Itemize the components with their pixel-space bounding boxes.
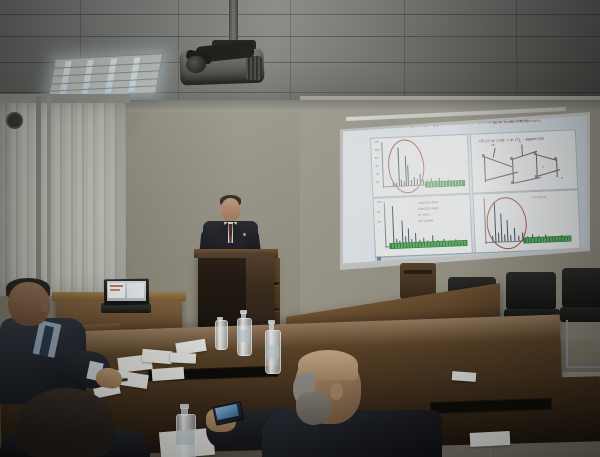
paper-sheet [470,431,511,447]
partition-frame-a [36,96,41,301]
fluorescent-ceiling-light [48,53,163,99]
projector-lens [186,56,206,73]
paper-sheet [141,349,172,365]
paper-sheet [452,371,477,382]
attendee-right-ear [330,383,343,400]
laptop-screen-content-a [110,285,123,287]
attendee-left-ear [40,300,49,312]
attendee-foreground-head [18,388,114,457]
laptop-screen-pane-right [127,283,144,298]
projector-vent [246,56,262,80]
screen-glare [343,115,587,265]
attendee-right-beard [296,392,330,425]
blinds-headrail [0,94,130,103]
laptop-screen-content-b [110,289,120,291]
smoke-detector-icon [6,112,23,129]
partition-frame-b [47,96,51,301]
paper-sheet [170,352,196,363]
chair-4-slat [404,270,432,274]
attendee-right-torso [262,410,442,457]
paper-sheet [152,367,185,381]
conference-room-photo: Модель розупорядкованості MnC2O4·2H2O (В… [0,0,600,457]
presenter-lapel-pin [243,233,246,236]
projector-mount-pole [229,0,238,44]
